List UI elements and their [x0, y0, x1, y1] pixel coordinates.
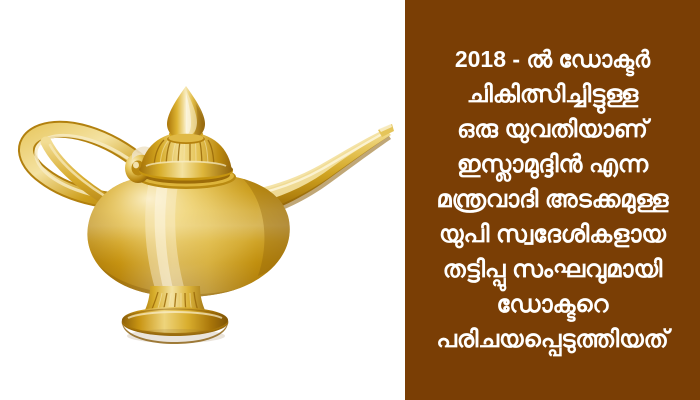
lamp-image-panel: [0, 0, 405, 400]
genie-lamp-icon: [0, 0, 405, 400]
caption-line-9: പരിചയപ്പെടുത്തിയത്: [411, 322, 694, 357]
caption-line-4: ഇസ്ലാമുദ്ദിൻ എന്ന: [411, 147, 694, 182]
caption-line-7: തട്ടിപ്പു സംഘവുമായി: [411, 252, 694, 287]
screenshot-canvas: 2018 - ൽ ഡോക്ടർ ചികിത്സിച്ചിട്ടുള്ള ഒരു …: [0, 0, 700, 400]
caption-line-5: മന്ത്രവാദി അടക്കമുള്ള: [411, 182, 694, 217]
caption-line-2: ചികിത്സിച്ചിട്ടുള്ള: [411, 77, 694, 112]
caption-panel: 2018 - ൽ ഡോക്ടർ ചികിത്സിച്ചിട്ടുള്ള ഒരു …: [405, 0, 700, 400]
caption-line-1: 2018 - ൽ ഡോക്ടർ: [411, 42, 694, 77]
lamp-finial: [167, 86, 205, 144]
caption-line-8: ഡോക്ടറെ: [411, 287, 694, 322]
caption-line-3: ഒരു യുവതിയാണ്: [411, 112, 694, 147]
caption-line-6: യുപി സ്വദേശികളായ: [411, 217, 694, 252]
